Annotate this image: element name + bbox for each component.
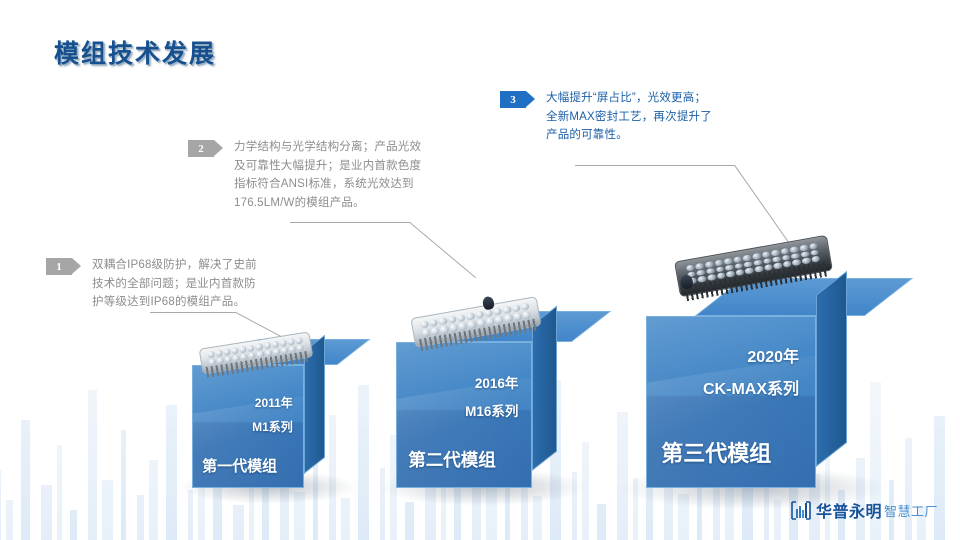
cube-1-series: M1系列 — [252, 418, 293, 435]
background-bar — [21, 420, 30, 540]
cube-3-labels: 2020年 CK-MAX系列 第三代模组 — [646, 316, 816, 488]
background-bar — [441, 482, 446, 540]
callout-1-badge: 1 — [46, 258, 72, 275]
cube-1-generation: 第一代模组 — [202, 455, 277, 476]
background-bar — [597, 504, 606, 540]
background-bar — [6, 500, 13, 540]
background-bar — [57, 445, 62, 540]
background-bar — [41, 485, 52, 540]
background-bar — [188, 490, 193, 540]
background-bar — [233, 505, 244, 540]
background-bar — [582, 442, 589, 540]
background-bar — [486, 488, 497, 540]
background-bar — [88, 390, 97, 540]
background-bar — [533, 496, 542, 540]
background-bar — [905, 438, 912, 540]
company-logo: 华普永明 智慧工厂 — [791, 498, 938, 522]
callout-2: 2 力学结构与光学结构分离；产品光效 及可靠性大幅提升；是业内首款色度 指标符合… — [188, 138, 421, 212]
cube-3-year: 2020年 — [747, 343, 799, 367]
callout-1: 1 双耦合IP68级防护，解决了史前 技术的全部问题；是业内首款防 护等级达到I… — [46, 256, 257, 312]
callout-3-number: 3 — [500, 91, 526, 108]
background-bar — [358, 385, 369, 540]
cube-2-year: 2016年 — [475, 372, 519, 392]
background-bar — [405, 502, 414, 540]
cube-2-series: M16系列 — [465, 400, 518, 420]
callout-1-text: 双耦合IP68级防护，解决了史前 技术的全部问题；是业内首款防 护等级达到IP6… — [92, 256, 257, 312]
huapu-logo-icon — [791, 501, 811, 520]
background-bar — [0, 470, 1, 540]
callout-3-text: 大幅提升“屏占比”，光效更高； 全新MAX密封工艺，再次提升了 产品的可靠性。 — [546, 89, 712, 145]
slide-canvas: 模组技术发展 1 双耦合IP68级防护，解决了史前 技术的全部问题；是业内首款防… — [0, 0, 960, 540]
background-bar — [166, 405, 177, 540]
cube-2-generation-2: 2016年 M16系列 第二代模组 — [396, 342, 532, 488]
leader-line-2 — [290, 222, 490, 302]
logo-company-name: 华普永明 — [816, 498, 882, 522]
cube-1-labels: 2011年 M1系列 第一代模组 — [192, 365, 304, 488]
background-bar — [678, 494, 689, 540]
logo-tagline: 智慧工厂 — [884, 501, 938, 520]
background-bar — [137, 495, 144, 540]
background-bar — [617, 412, 628, 540]
callout-3-badge: 3 — [500, 91, 526, 108]
cube-2-generation: 第二代模组 — [408, 447, 496, 472]
background-bar — [313, 455, 318, 540]
cube-1-year: 2011年 — [255, 394, 293, 411]
background-bar — [121, 430, 126, 540]
background-bar — [329, 415, 336, 540]
background-bar — [633, 478, 638, 540]
background-bar — [742, 484, 753, 540]
background-bar — [149, 460, 158, 540]
background-bar — [341, 498, 350, 540]
cube-3-generation: 第三代模组 — [661, 436, 771, 468]
cube-3-side-face — [816, 271, 847, 467]
callout-3: 3 大幅提升“屏占比”，光效更高； 全新MAX密封工艺，再次提升了 产品的可靠性… — [500, 89, 712, 145]
callout-2-badge: 2 — [188, 140, 214, 157]
background-bar — [294, 492, 305, 540]
cube-2-labels: 2016年 M16系列 第二代模组 — [396, 342, 532, 488]
page-title: 模组技术发展 — [54, 34, 216, 70]
background-bar — [102, 480, 113, 540]
cube-3-series: CK-MAX系列 — [703, 375, 799, 399]
callout-2-number: 2 — [188, 140, 214, 157]
cube-1-generation-1: 2011年 M1系列 第一代模组 — [192, 365, 304, 488]
background-bar — [572, 472, 577, 540]
led-module-2-connector — [482, 295, 495, 310]
cube-3-generation-3: 2020年 CK-MAX系列 第三代模组 — [646, 316, 816, 488]
callout-1-number: 1 — [46, 258, 72, 275]
background-bar — [70, 510, 77, 540]
background-bar — [380, 468, 385, 540]
background-bar — [774, 500, 781, 540]
callout-2-text: 力学结构与光学结构分离；产品光效 及可靠性大幅提升；是业内首款色度 指标符合AN… — [234, 138, 421, 212]
